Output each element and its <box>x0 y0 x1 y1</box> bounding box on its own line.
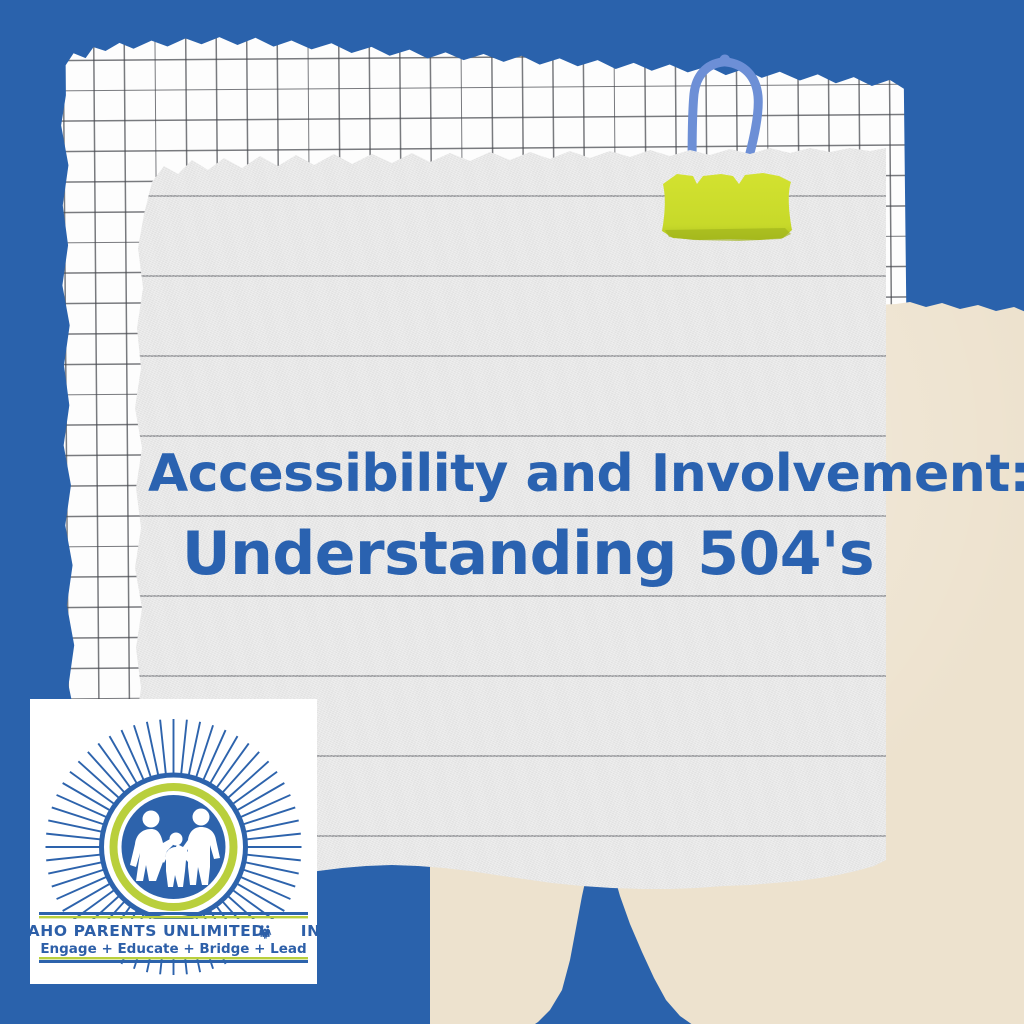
logo-card[interactable]: IDAHO PARENTS UNLIMITED INC. Engage + Ed… <box>30 699 317 984</box>
logo-org-name: IDAHO PARENTS UNLIMITED INC. <box>30 922 317 940</box>
idaho-parents-unlimited-logo: IDAHO PARENTS UNLIMITED INC. Engage + Ed… <box>30 699 317 984</box>
logo-tagline: Engage + Educate + Bridge + Lead <box>40 941 306 957</box>
poster-canvas: Accessibility and Involvement: Understan… <box>0 0 1024 1024</box>
title-line-1: Accessibility and Involvement: <box>148 448 900 500</box>
binder-clip-body <box>659 168 795 244</box>
title-line-2: Understanding 504's <box>156 524 900 584</box>
poster-title: Accessibility and Involvement: Understan… <box>140 448 900 584</box>
